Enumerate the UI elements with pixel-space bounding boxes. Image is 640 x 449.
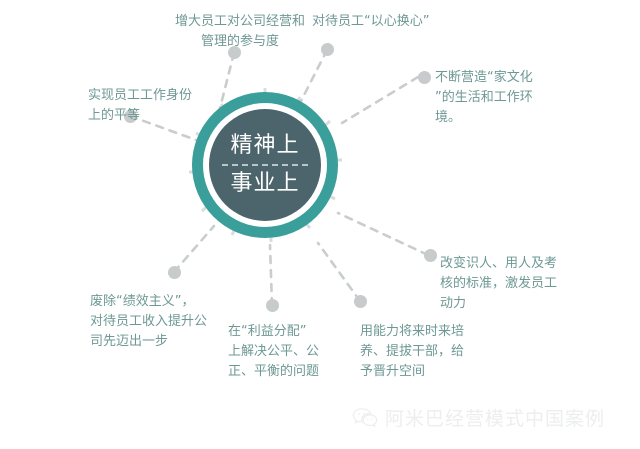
node-dot-evaluation-standard bbox=[424, 249, 437, 262]
wechat-bubble-icon bbox=[352, 407, 378, 429]
hub-divider bbox=[222, 164, 308, 166]
node-label-ability-promotion: 用能力将来时来培 养、提拔干部，给 予晋升空间 bbox=[360, 322, 490, 382]
node-label-family-culture: 不断营造“家文化 ”的生活和工作环 境。 bbox=[435, 68, 555, 128]
connector-heart-to-heart bbox=[300, 50, 327, 103]
node-dot-ability-promotion bbox=[354, 295, 367, 308]
node-label-profit-distribution: 在“利益分配” 上解决公平、公 正、平衡的问题 bbox=[228, 322, 348, 382]
watermark: 阿米巴经营模式中国案例 bbox=[352, 404, 605, 431]
node-label-abolish-performancism: 废除“绩效主义”， 对待员工收入提升公 司先迈出一步 bbox=[90, 292, 230, 352]
hub-label-line1: 精神上 bbox=[230, 133, 299, 159]
connector-evaluation-standard bbox=[338, 213, 428, 255]
hub-label-line2: 事业上 bbox=[230, 171, 299, 197]
connector-family-culture bbox=[342, 77, 418, 123]
node-label-heart-to-heart: 对待员工“以心换心” bbox=[312, 12, 522, 32]
node-label-evaluation-standard: 改变识人、用人及考 核的标准，激发员工 动力 bbox=[440, 254, 572, 314]
hub-circle: 精神上 事业上 bbox=[192, 92, 338, 238]
hub-core: 精神上 事业上 bbox=[209, 109, 321, 221]
watermark-text: 阿米巴经营模式中国案例 bbox=[385, 404, 605, 431]
connector-ability-promotion bbox=[318, 243, 360, 301]
diagram-canvas: 精神上 事业上 增大员工对公司经营和 管理的参与度 对待员工“以心换心” 不断营… bbox=[0, 0, 640, 449]
node-dot-family-culture bbox=[418, 71, 431, 84]
connector-profit-distribution bbox=[270, 245, 272, 305]
node-label-participation: 增大员工对公司经营和 管理的参与度 bbox=[140, 12, 340, 52]
node-label-identity-equality: 实现员工工作身份 上的平等 bbox=[88, 86, 208, 126]
node-dot-profit-distribution bbox=[266, 299, 279, 312]
hub-inner-white-ring: 精神上 事业上 bbox=[203, 103, 327, 227]
connector-abolish-performancism bbox=[174, 226, 214, 272]
node-dot-abolish-performancism bbox=[168, 266, 181, 279]
